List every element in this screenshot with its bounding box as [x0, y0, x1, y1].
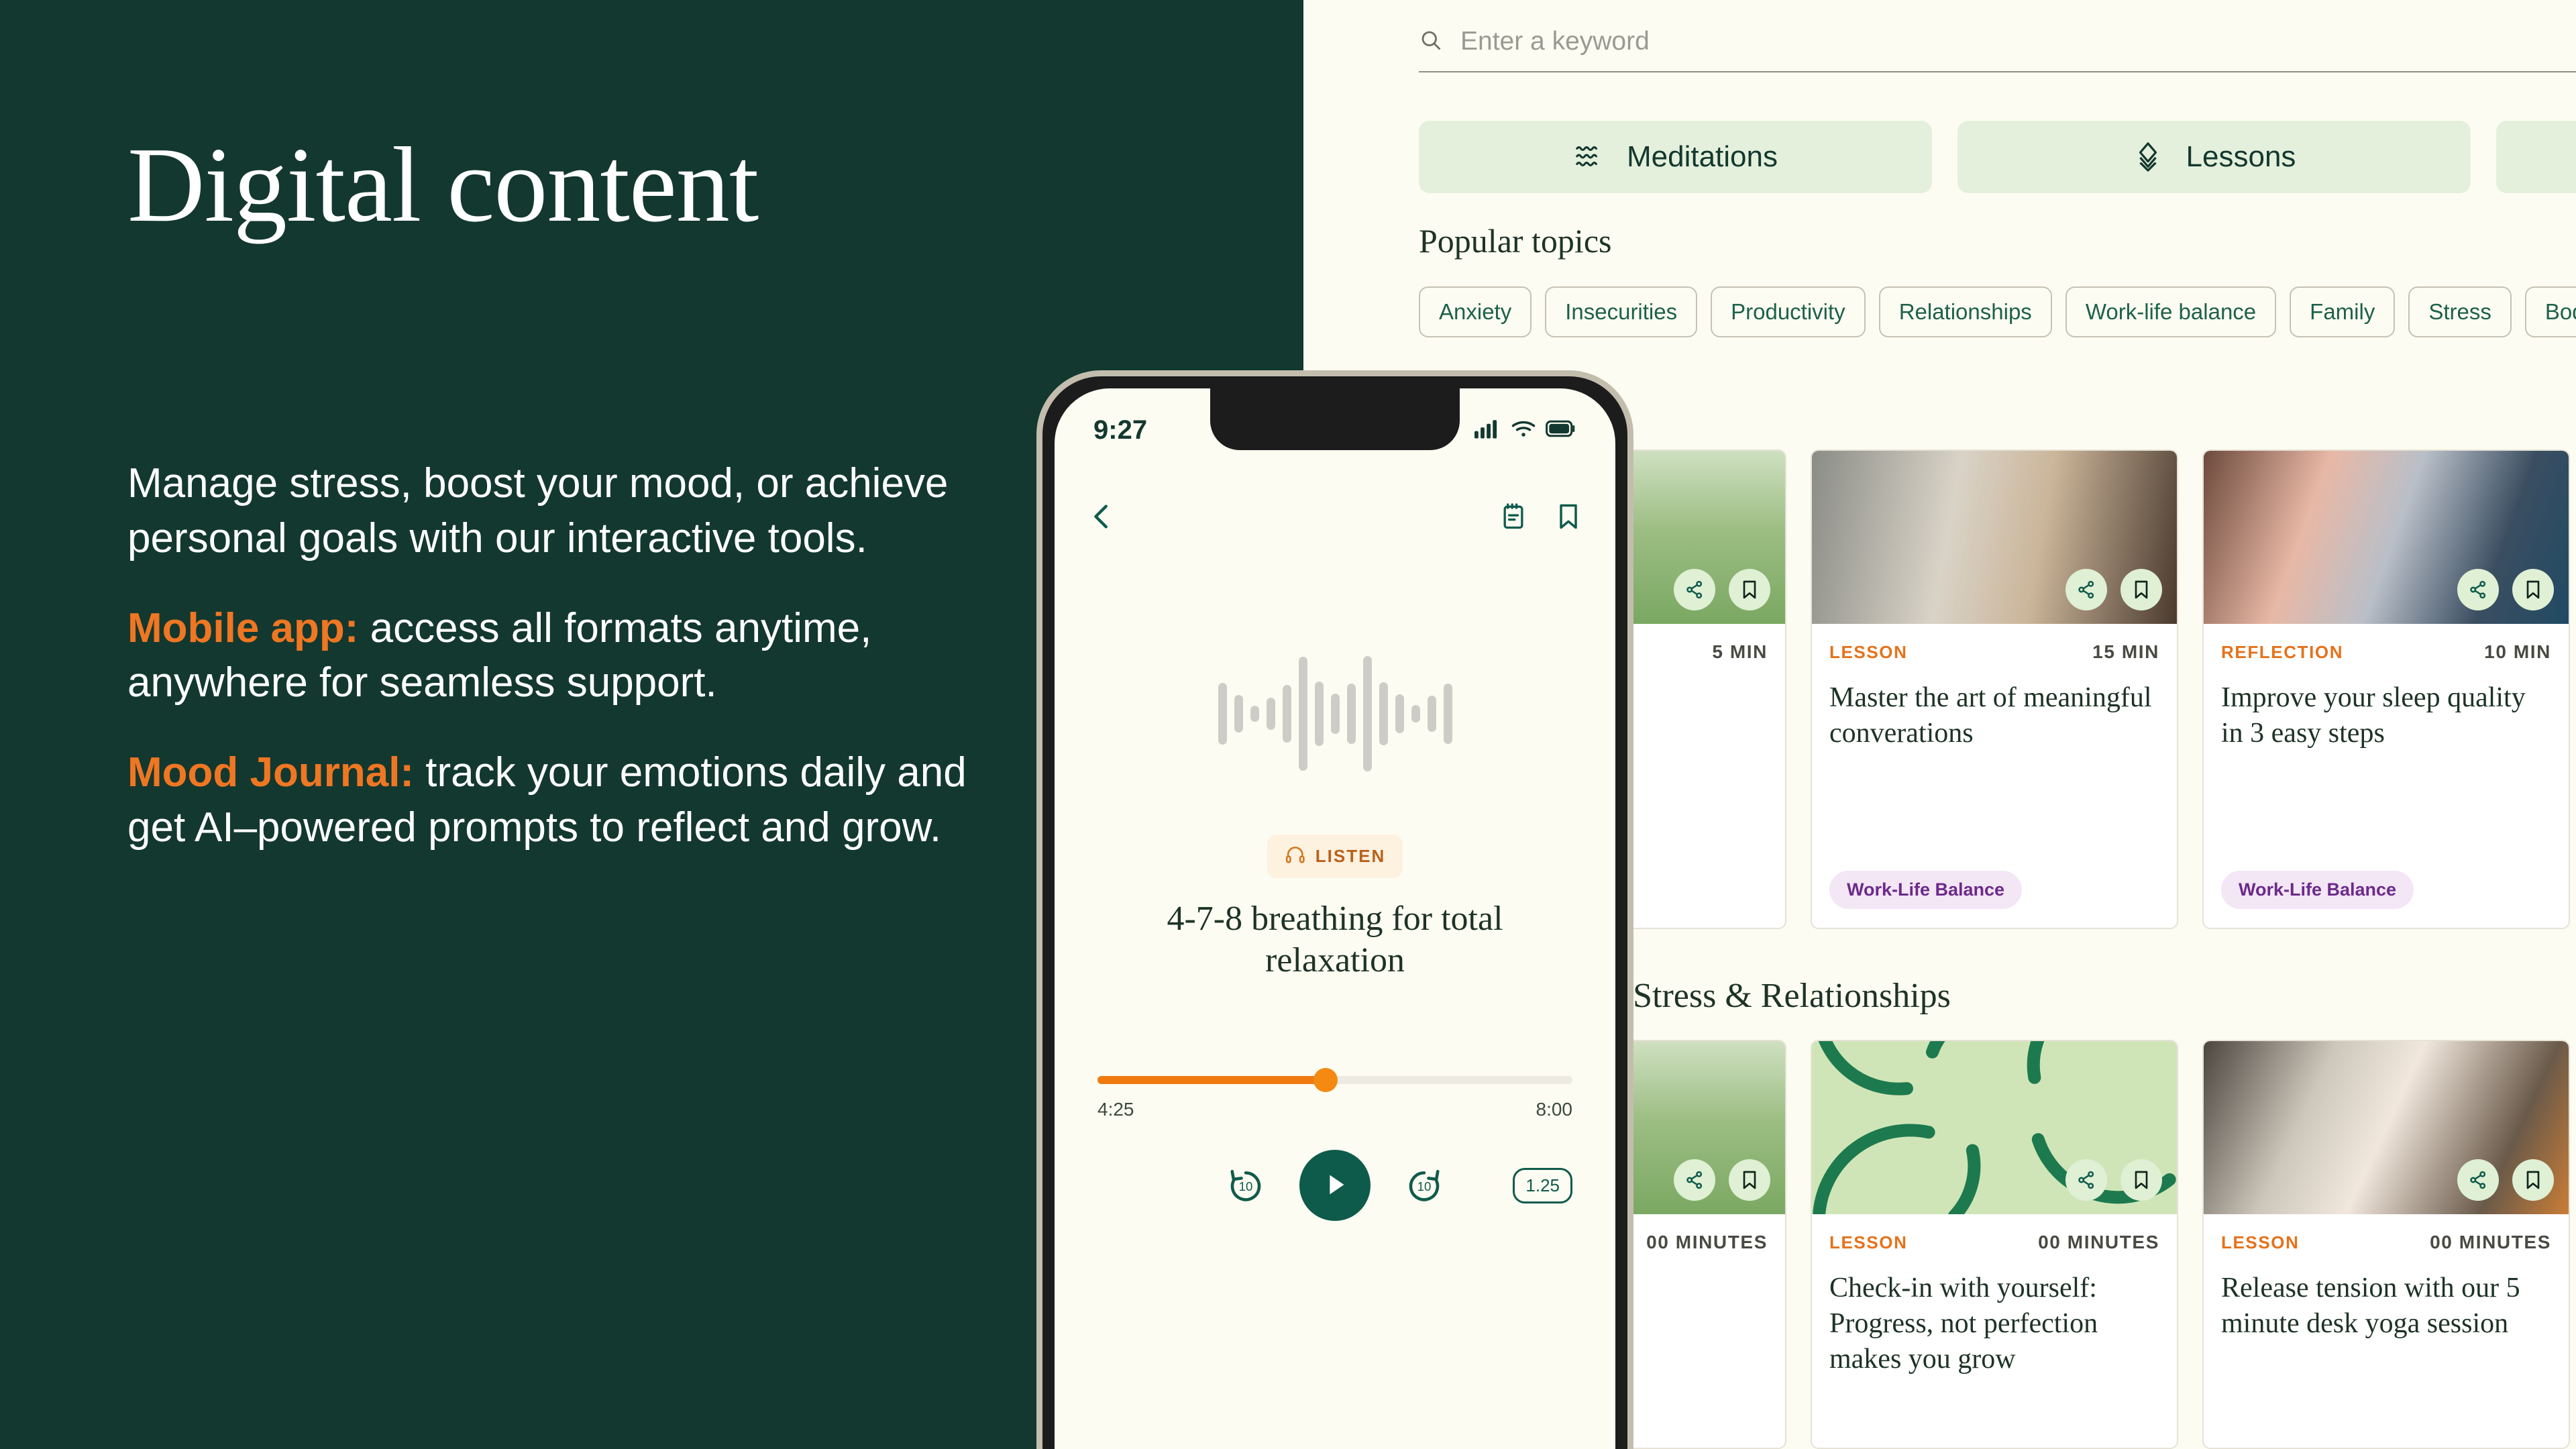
card-media-actions	[1674, 1159, 1770, 1201]
progress-section: 4:25 8:00	[1097, 1076, 1572, 1120]
share-icon[interactable]	[1674, 1159, 1715, 1201]
listen-label: LISTEN	[1316, 846, 1385, 867]
playback-speed-button[interactable]: 1.25	[1513, 1168, 1572, 1203]
bookmark-icon[interactable]	[1729, 1159, 1770, 1201]
card-tag-wrap: Work-Life Balance	[1829, 871, 2022, 909]
track-title: 4-7-8 breathing for total relaxation	[1102, 898, 1568, 982]
share-icon[interactable]	[2065, 569, 2107, 610]
topic-chip-anxiety[interactable]: Anxiety	[1419, 286, 1532, 337]
hero-paragraph-1-text: Manage stress, boost your mood, or achie…	[127, 460, 948, 561]
share-icon[interactable]	[2065, 1159, 2107, 1201]
phone-nav-bar	[1055, 501, 1615, 532]
card-meta: LESSON 00 MINUTES	[1829, 1232, 2159, 1253]
card-duration: 00 MINUTES	[2430, 1232, 2551, 1253]
card-media-actions	[2457, 1159, 2554, 1201]
status-icons	[1474, 419, 1576, 442]
share-icon[interactable]	[1674, 569, 1715, 610]
card-meta: REFLECTION 10 MIN	[2221, 641, 2551, 663]
phone-screen: 9:27	[1055, 388, 1615, 1449]
play-icon	[1320, 1169, 1350, 1202]
forward-10-icon[interactable]: 10	[1403, 1164, 1446, 1207]
card-media	[1812, 1041, 2177, 1214]
hero-paragraph-2-lead: Mobile app:	[127, 605, 358, 651]
content-card[interactable]: LESSON 00 MINUTES Release tension with o…	[2202, 1040, 2570, 1449]
card-body: LESSON 15 MIN Master the art of meaningf…	[1812, 624, 2177, 751]
search-icon	[1419, 28, 1443, 56]
bookmark-icon[interactable]	[2512, 1159, 2554, 1201]
card-body: LESSON 00 MINUTES Release tension with o…	[2204, 1214, 2569, 1342]
chevron-left-icon[interactable]	[1087, 501, 1118, 532]
total-time: 8:00	[1536, 1099, 1573, 1120]
card-media-actions	[2065, 1159, 2162, 1201]
topic-chip-insecurities[interactable]: Insecurities	[1545, 286, 1697, 337]
headphones-icon	[1285, 844, 1306, 869]
card-kind-label: REFLECTION	[2221, 642, 2343, 663]
card-title: Release tension with our 5 minute desk y…	[2221, 1271, 2551, 1342]
hero-paragraph-1: Manage stress, boost your mood, or achie…	[127, 456, 993, 566]
signal-icon	[1474, 419, 1501, 442]
share-icon[interactable]	[2457, 1159, 2499, 1201]
share-icon[interactable]	[2457, 569, 2499, 610]
card-media-actions	[2457, 569, 2554, 610]
search-bar[interactable]	[1419, 27, 2576, 72]
progress-thumb[interactable]	[1313, 1068, 1338, 1092]
category-chip-third-partial[interactable]	[2496, 121, 2576, 193]
topic-chip-relationships[interactable]: Relationships	[1879, 286, 2052, 337]
card-body: LESSON 00 MINUTES Check-in with yourself…	[1812, 1214, 2177, 1377]
card-tag: Work-Life Balance	[2221, 871, 2414, 909]
content-card[interactable]: LESSON 00 MINUTES Check-in with yourself…	[1811, 1040, 2178, 1449]
layers-icon	[2133, 141, 2163, 174]
content-card[interactable]: REFLECTION 10 MIN Improve your sleep qua…	[2202, 449, 2570, 929]
category-chip-meditations[interactable]: Meditations	[1419, 121, 1932, 193]
play-button[interactable]	[1299, 1150, 1371, 1221]
card-duration: 00 MINUTES	[1646, 1232, 1768, 1253]
battery-icon	[1546, 419, 1576, 442]
player-controls: 10 10 1.25	[1097, 1150, 1572, 1221]
bookmark-icon[interactable]	[2121, 569, 2162, 610]
card-tag: Work-Life Balance	[1829, 871, 2022, 909]
svg-text:10: 10	[1417, 1179, 1432, 1193]
waves-icon	[1573, 141, 1604, 174]
content-card[interactable]: LESSON 15 MIN Master the art of meaningf…	[1811, 449, 2178, 929]
topic-chip-body[interactable]: Body	[2525, 286, 2576, 337]
card-media-actions	[2065, 569, 2162, 610]
card-duration: 15 MIN	[2092, 641, 2159, 663]
wifi-icon	[1511, 419, 1536, 442]
topic-chip-work-life-balance[interactable]: Work-life balance	[2065, 286, 2276, 337]
phone-nav-actions	[1499, 502, 1583, 531]
hero-paragraph-3-lead: Mood Journal:	[127, 749, 414, 796]
card-duration: 00 MINUTES	[2038, 1232, 2159, 1253]
bookmark-icon[interactable]	[1729, 569, 1770, 610]
phone-mockup: 9:27	[1036, 370, 1633, 1449]
topic-chip-productivity[interactable]: Productivity	[1711, 286, 1866, 337]
card-title: Improve your sleep quality in 3 easy ste…	[2221, 680, 2551, 751]
card-tag-wrap: Work-Life Balance	[2221, 871, 2414, 909]
listen-badge: LISTEN	[1267, 835, 1403, 878]
category-chip-meditations-label: Meditations	[1627, 140, 1778, 174]
category-chip-lessons[interactable]: Lessons	[1957, 121, 2471, 193]
card-kind-label: LESSON	[1829, 642, 1908, 663]
card-meta: LESSON 00 MINUTES	[2221, 1232, 2551, 1253]
phone-status-bar: 9:27	[1055, 415, 1615, 445]
card-meta: LESSON 15 MIN	[1829, 641, 2159, 663]
card-duration: 10 MIN	[2484, 641, 2551, 663]
hero-paragraph-2: Mobile app: access all formats anytime, …	[127, 601, 993, 711]
page-title: Digital content	[127, 131, 758, 238]
rewind-10-icon[interactable]: 10	[1224, 1164, 1267, 1207]
popular-topics-title: Popular topics	[1419, 221, 1611, 260]
search-input[interactable]	[1460, 27, 2534, 56]
category-chip-row: Meditations Lessons	[1419, 121, 2576, 193]
progress-slider[interactable]	[1097, 1076, 1572, 1084]
topic-chip-row: Anxiety Insecurities Productivity Relati…	[1419, 286, 2576, 337]
progress-fill	[1097, 1076, 1326, 1084]
category-chip-lessons-label: Lessons	[2186, 140, 2296, 174]
notepad-icon[interactable]	[1499, 502, 1528, 531]
hero-paragraph-3: Mood Journal: track your emotions daily …	[127, 745, 993, 855]
card-title: Master the art of meaningful converation…	[1829, 680, 2159, 751]
bookmark-icon[interactable]	[2121, 1159, 2162, 1201]
card-media	[2204, 1041, 2569, 1214]
card-kind-label: LESSON	[2221, 1232, 2300, 1253]
card-media-actions	[1674, 569, 1770, 610]
current-time: 4:25	[1097, 1099, 1134, 1120]
time-row: 4:25 8:00	[1097, 1099, 1572, 1120]
audio-waveform	[1055, 650, 1615, 777]
card-body: REFLECTION 10 MIN Improve your sleep qua…	[2204, 624, 2569, 751]
topic-chip-stress[interactable]: Stress	[2408, 286, 2512, 337]
card-duration: 5 MIN	[1712, 641, 1768, 663]
card-kind-label: LESSON	[1829, 1232, 1908, 1253]
topic-chip-family[interactable]: Family	[2290, 286, 2395, 337]
card-media	[1812, 451, 2177, 624]
card-media	[2204, 451, 2569, 624]
svg-text:10: 10	[1239, 1179, 1253, 1193]
hero-body-copy: Manage stress, boost your mood, or achie…	[127, 456, 993, 855]
bookmark-icon[interactable]	[1554, 502, 1583, 531]
card-title: Check-in with yourself: Progress, not pe…	[1829, 1271, 2159, 1377]
status-time: 9:27	[1093, 415, 1147, 445]
bookmark-icon[interactable]	[2512, 569, 2554, 610]
